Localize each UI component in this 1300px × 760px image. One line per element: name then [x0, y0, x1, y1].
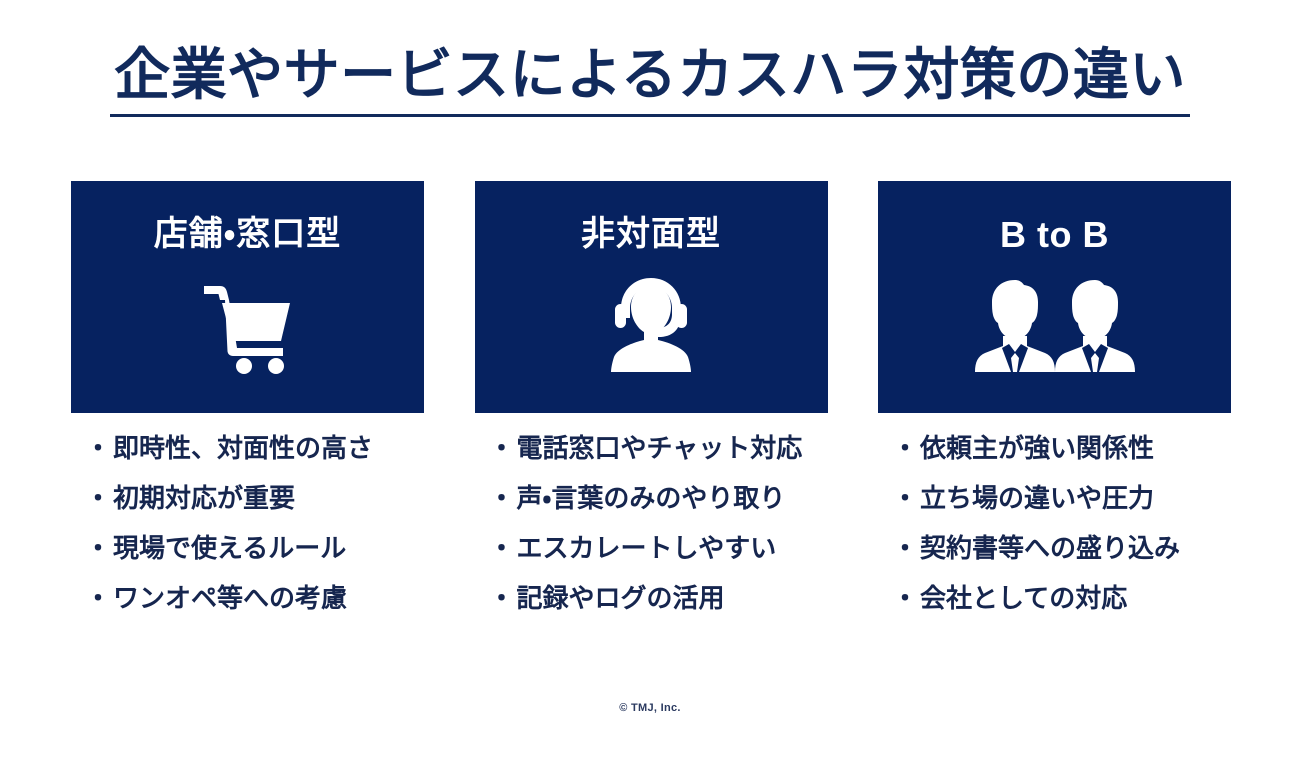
shopping-cart-icon: [196, 269, 300, 379]
bullet-mark: ・: [892, 535, 918, 561]
bullet-mark: ・: [85, 485, 111, 511]
card-title-store: 店舗・窓口型: [154, 217, 342, 251]
category-column-btob: B to B: [878, 181, 1231, 627]
list-item: ・ 初期対応が重要: [85, 485, 424, 511]
list-item: ・ 契約書等への盛り込み: [892, 535, 1231, 561]
bullet-mark: ・: [85, 435, 111, 461]
card-title-btob: B to B: [1000, 217, 1109, 253]
bullet-mark: ・: [892, 585, 918, 611]
bullet-text: 声・言葉のみのやり取り: [517, 485, 786, 511]
headset-operator-icon: [603, 269, 699, 379]
list-item: ・ 現場で使えるルール: [85, 535, 424, 561]
category-column-remote: 非対面型 ・ 電話窓口やチャット対応: [475, 181, 828, 627]
list-item: ・ ワンオペ等への考慮: [85, 585, 424, 611]
bullet-text: 記録やログの活用: [517, 585, 725, 611]
category-card-store: 店舗・窓口型: [71, 181, 424, 413]
bullet-mark: ・: [85, 585, 111, 611]
bullet-list-store: ・ 即時性、対面性の高さ ・ 初期対応が重要 ・ 現場で使えるルール ・ ワンオ…: [71, 435, 424, 611]
bullet-text: エスカレートしやすい: [517, 535, 777, 561]
bullet-mark: ・: [892, 485, 918, 511]
list-item: ・ 依頼主が強い関係性: [892, 435, 1231, 461]
bullet-mark: ・: [85, 535, 111, 561]
category-column-store: 店舗・窓口型 ・ 即時性、対面性: [71, 181, 424, 627]
bullet-text: 立ち場の違いや圧力: [920, 485, 1154, 511]
bullet-text: 現場で使えるルール: [113, 535, 346, 561]
bullet-mark: ・: [892, 435, 918, 461]
bullet-text: 会社としての対応: [920, 585, 1127, 611]
list-item: ・ エスカレートしやすい: [489, 535, 828, 561]
category-columns: 店舗・窓口型 ・ 即時性、対面性: [71, 181, 1231, 627]
bullet-text: 初期対応が重要: [113, 485, 295, 511]
bullet-text: 依頼主が強い関係性: [920, 435, 1154, 461]
bullet-mark: ・: [489, 535, 515, 561]
list-item: ・ 電話窓口やチャット対応: [489, 435, 828, 461]
bullet-text: 契約書等への盛り込み: [920, 535, 1180, 561]
page-title: 企業やサービスによるカスハラ対策の違い: [110, 44, 1190, 117]
copyright-footer: © TMJ, Inc.: [0, 702, 1300, 714]
page-title-wrapper: 企業やサービスによるカスハラ対策の違い: [0, 44, 1300, 117]
list-item: ・ 即時性、対面性の高さ: [85, 435, 424, 461]
bullet-mark: ・: [489, 585, 515, 611]
card-title-remote: 非対面型: [581, 217, 721, 251]
bullet-list-btob: ・ 依頼主が強い関係性 ・ 立ち場の違いや圧力 ・ 契約書等への盛り込み ・ 会…: [878, 435, 1231, 611]
category-card-remote: 非対面型: [475, 181, 828, 413]
category-card-btob: B to B: [878, 181, 1231, 413]
slide-root: 企業やサービスによるカスハラ対策の違い 店舗・窓口型: [0, 0, 1300, 760]
two-businessmen-icon: [975, 271, 1135, 381]
list-item: ・ 会社としての対応: [892, 585, 1231, 611]
bullet-text: 即時性、対面性の高さ: [113, 435, 373, 461]
list-item: ・ 記録やログの活用: [489, 585, 828, 611]
bullet-mark: ・: [489, 485, 515, 511]
bullet-list-remote: ・ 電話窓口やチャット対応 ・ 声・言葉のみのやり取り ・ エスカレートしやすい…: [475, 435, 828, 611]
bullet-text: ワンオペ等への考慮: [113, 585, 347, 611]
bullet-mark: ・: [489, 435, 515, 461]
bullet-text: 電話窓口やチャット対応: [517, 435, 803, 461]
list-item: ・ 声・言葉のみのやり取り: [489, 485, 828, 511]
list-item: ・ 立ち場の違いや圧力: [892, 485, 1231, 511]
